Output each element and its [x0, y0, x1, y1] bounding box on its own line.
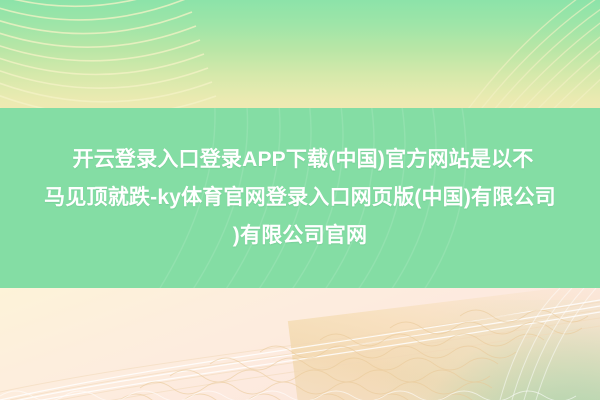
banner-headline: 开云登录入口登录APP下载(中国)官方网站是以不 马见顶就跌-ky体育官网登录入… [0, 108, 600, 288]
banner-bottom-gradient [0, 288, 600, 400]
wave-pattern-icon [0, 288, 600, 400]
headline-line-3: )有限公司官网 [233, 217, 367, 255]
promo-banner: 开云登录入口登录APP下载(中国)官方网站是以不 马见顶就跌-ky体育官网登录入… [0, 0, 600, 400]
headline-line-2: 马见顶就跌-ky体育官网登录入口网页版(中国)有限公司 [44, 179, 556, 217]
banner-top-gradient [0, 0, 600, 108]
arc-pattern-right-icon [400, 0, 600, 108]
arc-pattern-left-icon [0, 0, 300, 108]
headline-line-1: 开云登录入口登录APP下载(中国)官方网站是以不 [73, 141, 534, 179]
